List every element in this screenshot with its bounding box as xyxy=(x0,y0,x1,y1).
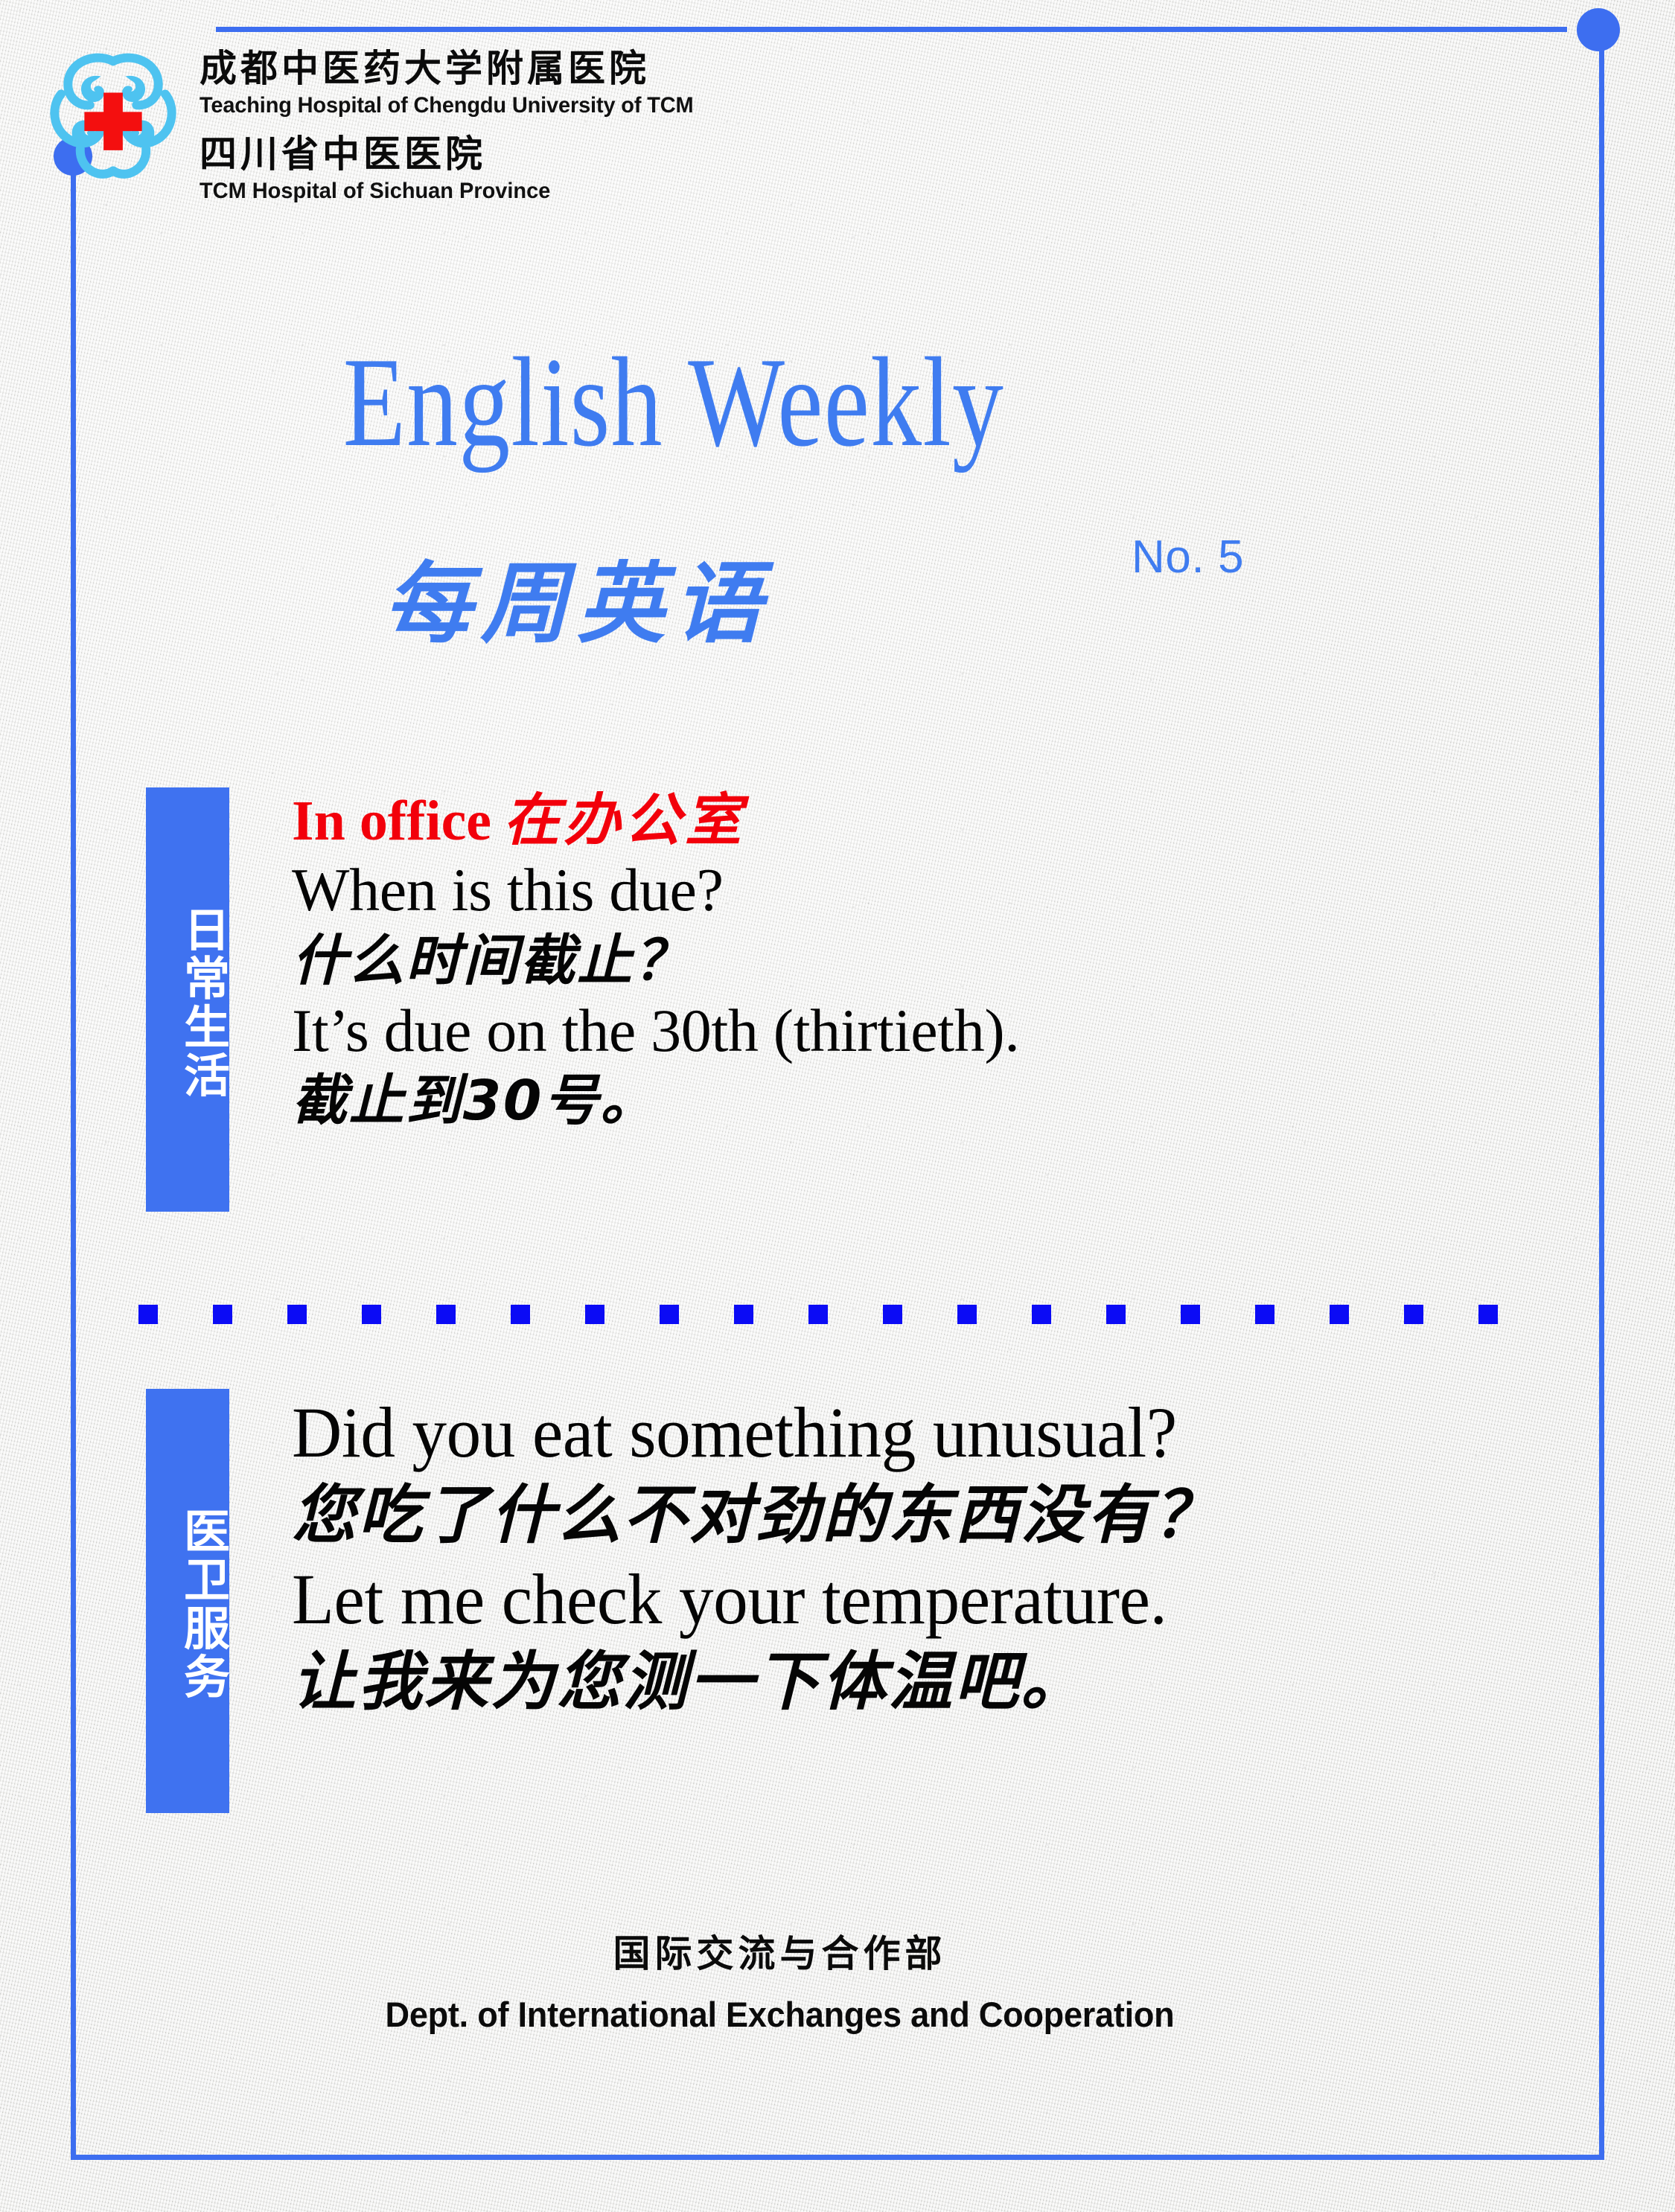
dashed-divider xyxy=(138,1305,1545,1324)
poster-title-block: English Weekly xyxy=(0,339,1347,467)
section-tab-daily-life[interactable]: 日常生活 xyxy=(146,787,229,1212)
phrase-cn-1: 什么时间截止？ xyxy=(292,927,1020,994)
hospital-alt-name-cn: 四川省中医医院 xyxy=(200,135,712,174)
section-body-medical-service: Did you eat something unusual? 您吃了什么不对劲的… xyxy=(292,1389,1219,1722)
frame-line-bottom xyxy=(71,2155,1604,2160)
hospital-name-en: Teaching Hospital of Chengdu University … xyxy=(200,93,694,118)
footer-department-en: Dept. of International Exchanges and Coo… xyxy=(31,1994,1528,2035)
hospital-alt-name-en: TCM Hospital of Sichuan Province xyxy=(200,179,694,204)
footer-block: 国际交流与合作部 Dept. of International Exchange… xyxy=(0,1924,1560,2035)
frame-line-top xyxy=(216,27,1567,32)
frame-line-right xyxy=(1599,27,1604,2160)
hospital-header: 成都中医药大学附属医院 Teaching Hospital of Chengdu… xyxy=(45,46,712,204)
phrase-cn-2: 截止到30号。 xyxy=(292,1067,1020,1134)
section-body-daily-life: In office在办公室 When is this due? 什么时间截止？ … xyxy=(292,787,1020,1134)
phrase-en-1: When is this due? xyxy=(292,854,1020,927)
page-title-en: English Weekly xyxy=(135,339,1213,467)
section-heading-in-office: In office在办公室 xyxy=(292,787,1020,854)
frame-dot-top-right xyxy=(1577,8,1620,51)
hospital-name-cn: 成都中医药大学附属医院 xyxy=(200,49,712,89)
page-title-cn: 每周英语 xyxy=(0,560,1154,648)
phrase-cn-4: 让我来为您测一下体温吧。 xyxy=(292,1643,1219,1722)
phrase-cn-3: 您吃了什么不对劲的东西没有？ xyxy=(292,1476,1219,1556)
section-heading-en: In office xyxy=(292,790,491,852)
section-heading-cn: 在办公室 xyxy=(503,787,745,853)
poster-canvas: 成都中医药大学附属医院 Teaching Hospital of Chengdu… xyxy=(0,0,1675,2212)
section-tab-medical-service[interactable]: 医卫服务 xyxy=(146,1389,229,1813)
hospital-logo-icon xyxy=(45,46,182,183)
phrase-en-4: Let me check your temperature. xyxy=(292,1556,1192,1643)
phrase-en-3: Did you eat something unusual? xyxy=(292,1389,1192,1476)
hospital-name-block: 成都中医药大学附属医院 Teaching Hospital of Chengdu… xyxy=(200,46,712,204)
footer-department-cn: 国际交流与合作部 xyxy=(0,1924,1560,1978)
phrase-en-2: It’s due on the 30th (thirtieth). xyxy=(292,994,1020,1067)
